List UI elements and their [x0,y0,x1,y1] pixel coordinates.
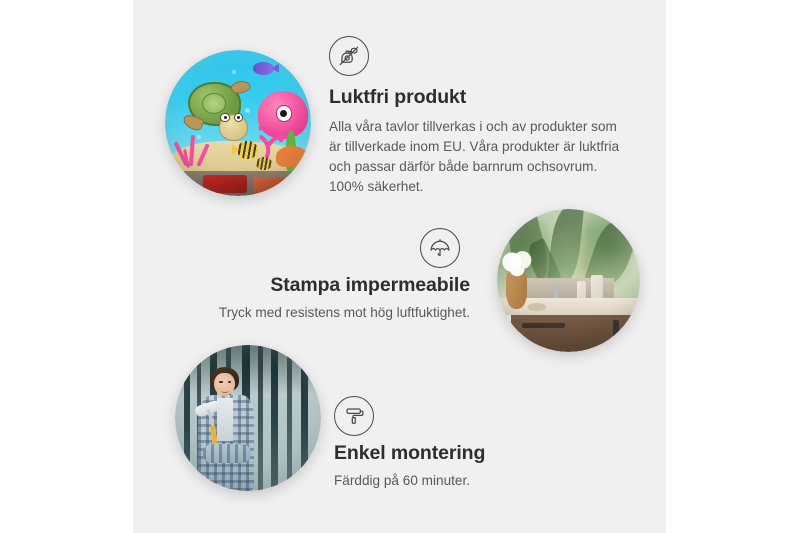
room-photo-strip [165,171,311,196]
person-eye [219,381,222,383]
photo-painter-inner [175,345,321,491]
umbrella-icon [420,228,460,268]
feature-waterproof-text: Stampa impermeabile Tryck med resistens … [190,274,470,323]
paint-roller-icon [334,396,374,436]
person-eye [228,381,231,383]
feature-title: Luktfri produkt [329,86,624,109]
photo-circle-underwater [165,50,311,196]
feature-title: Stampa impermeabile [190,274,470,297]
feature-description: Tryck med resistens mot hög luftfuktighe… [190,303,470,323]
content-panel: Luktfri produkt Alla våra tavlor tillver… [133,0,666,533]
white-flowers [500,249,534,278]
feature-description: Alla våra tavlor tillverkas i och av pro… [329,117,624,197]
fish-small [256,157,272,170]
coral-pink [174,135,215,174]
person-smile [221,388,229,393]
photo-circle-painter [175,345,321,491]
fish-blue [253,62,275,75]
feature-easy-mounting-text: Enkel montering Färddig på 60 minuter. [334,442,604,491]
photo-underwater-inner [165,50,311,196]
starfish [276,146,308,166]
turtle-eye [220,113,229,122]
forest-canopy [175,345,321,395]
feature-description: Färddig på 60 minuter. [334,471,604,491]
person-crossed-arms [203,444,251,463]
bathroom-vanity [511,315,640,352]
octopus-eye [276,105,292,121]
no-odor-perfume-icon [329,36,369,76]
photo-circle-bathroom [497,209,640,352]
photo-bathroom-inner [497,209,640,352]
soap-dish [528,303,545,310]
feature-odor-free-text: Luktfri produkt Alla våra tavlor tillver… [329,86,624,197]
feature-title: Enkel montering [334,442,604,465]
infographic-stage: Luktfri produkt Alla våra tavlor tillver… [0,0,800,533]
